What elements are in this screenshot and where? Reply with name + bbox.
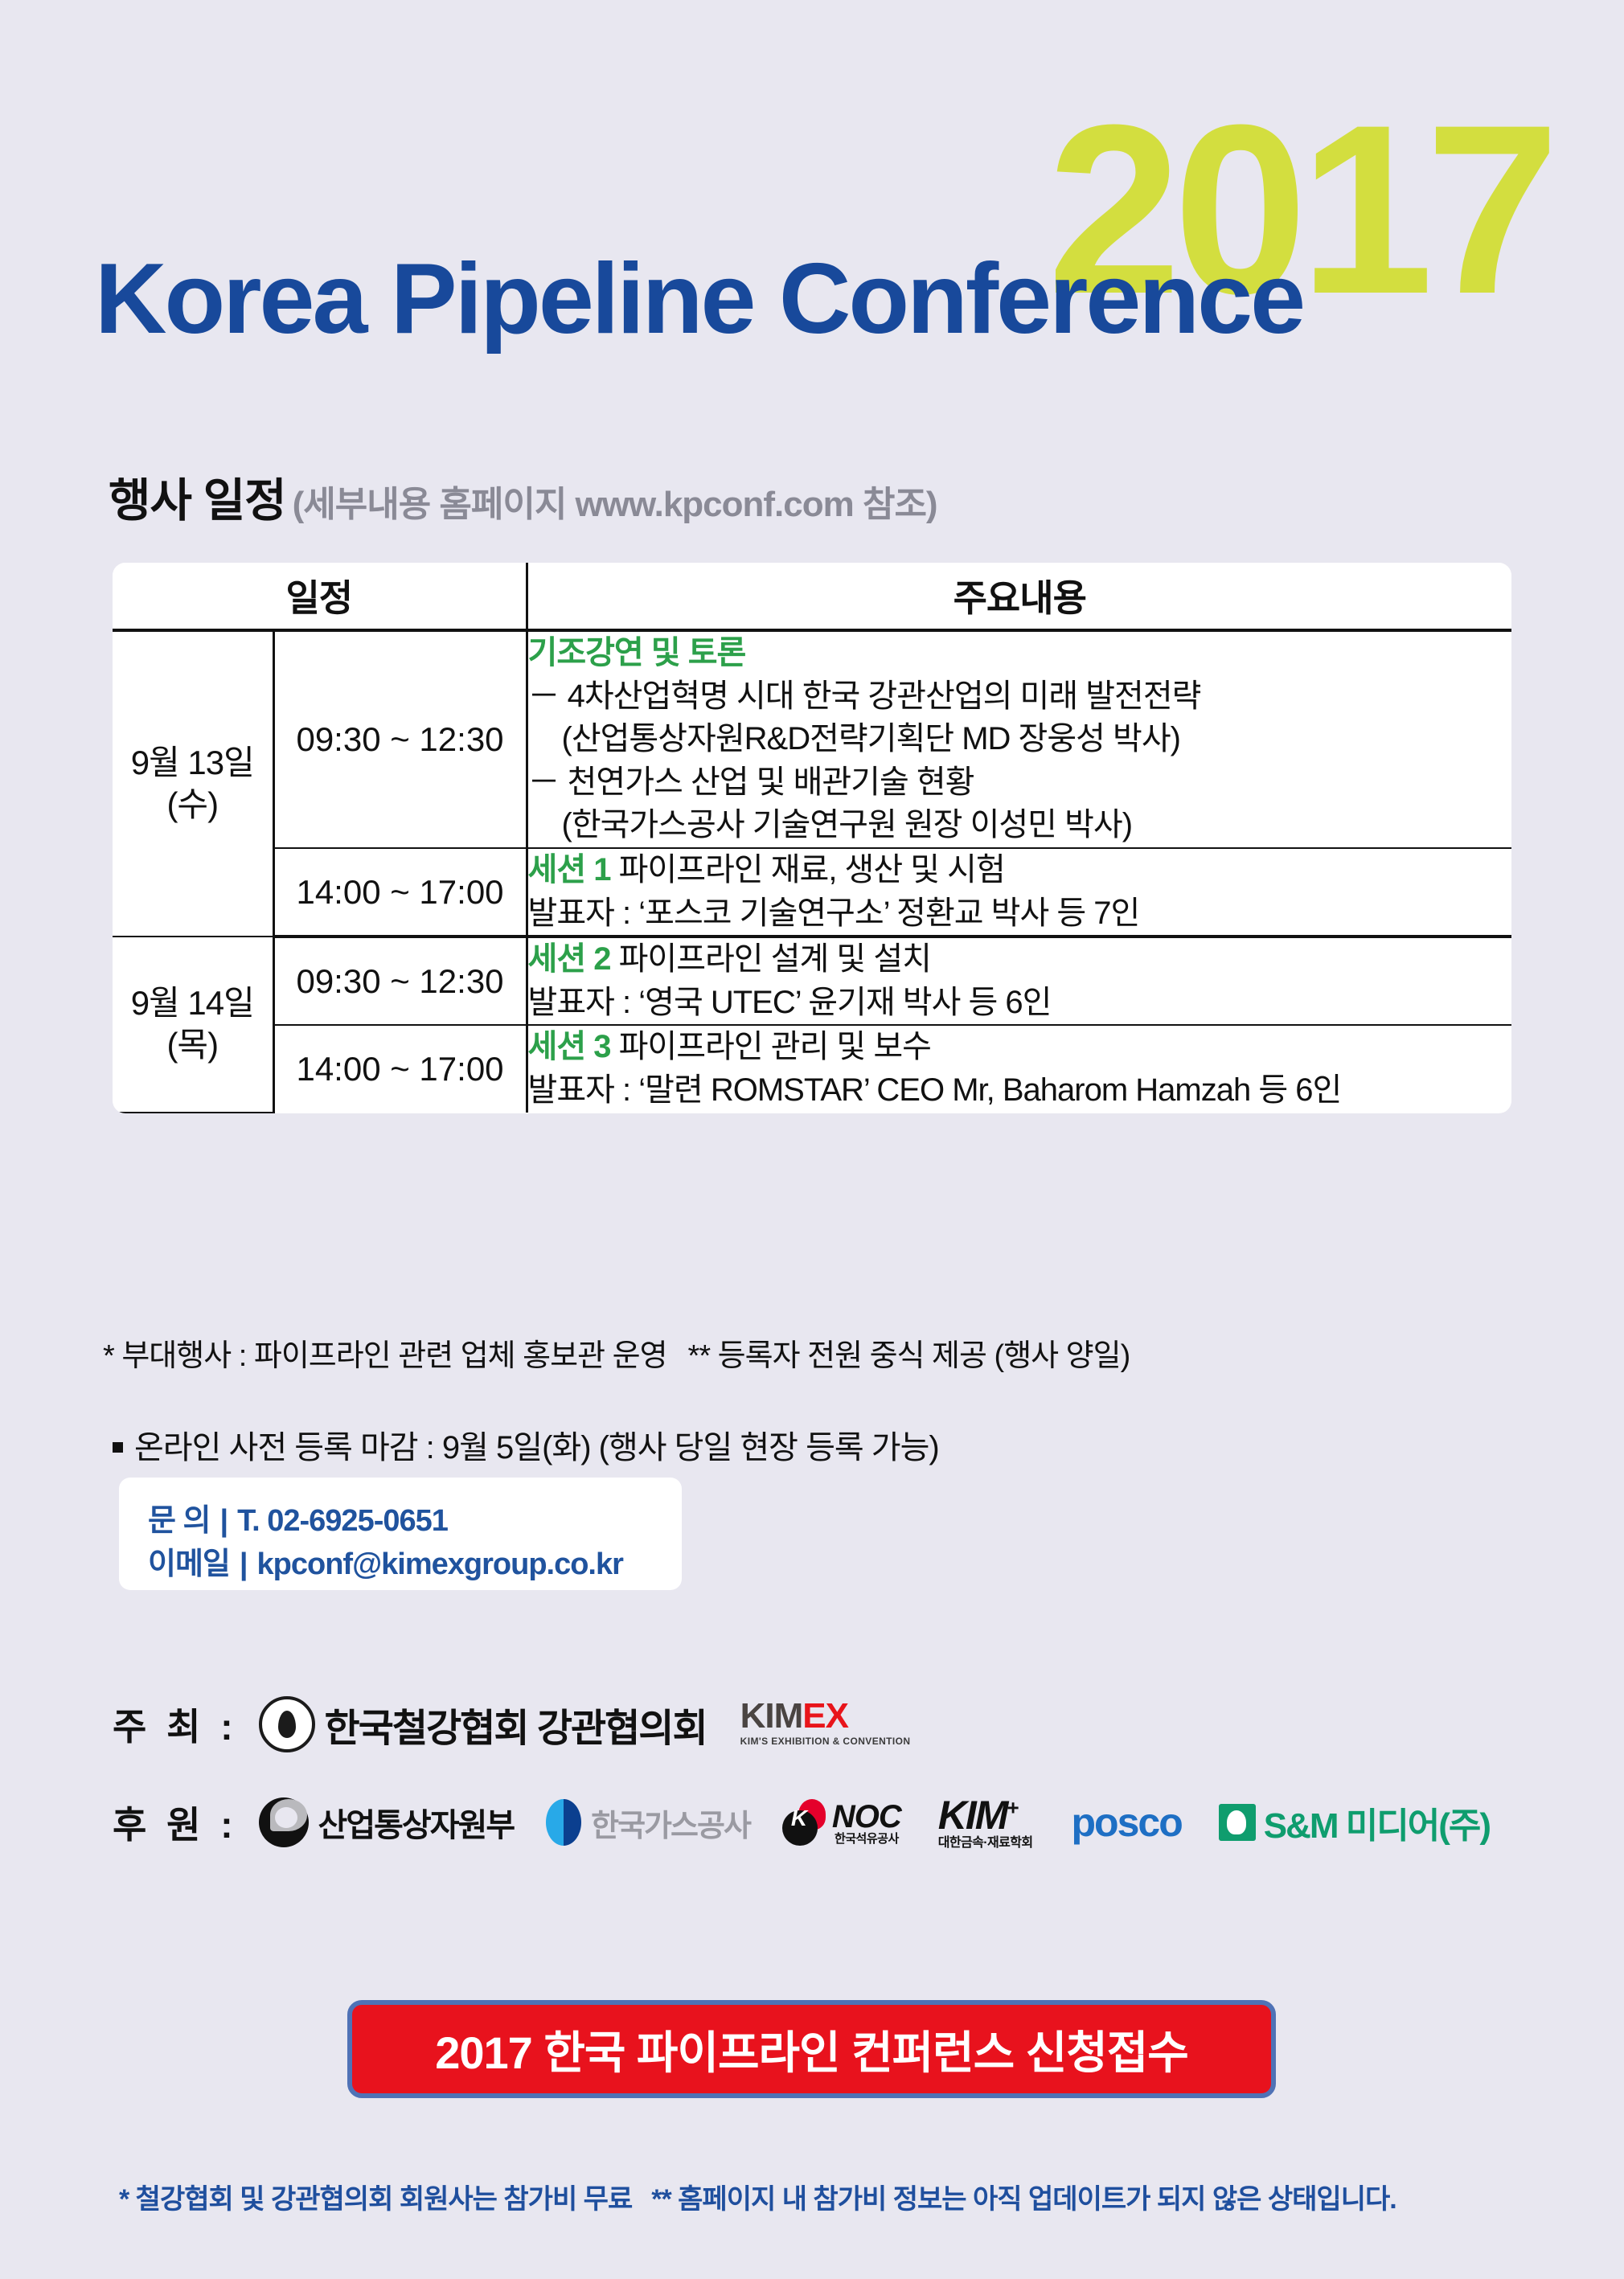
knoc-mark-icon: K	[782, 1799, 827, 1846]
logo-korea-iron-steel-association: 한국철강협회 강관협의회	[259, 1696, 707, 1752]
knoc-wordmark: NOC	[832, 1801, 901, 1833]
session2-label: 세션 2	[528, 941, 611, 977]
host-label: 주 최 :	[113, 1698, 238, 1751]
date-cell-day1: 9월 13일 (수)	[113, 630, 273, 937]
content-cell-session3: 세션 3 파이프라인 관리 및 보수 발표자 : ‘말련 ROMSTAR’ CE…	[527, 1025, 1511, 1112]
contact-email-label: 이메일	[148, 1539, 230, 1583]
time-cell: 09:30 ~ 12:30	[273, 630, 527, 848]
kogas-flame-icon	[546, 1799, 581, 1846]
content-cell-session1: 세션 1 파이프라인 재료, 생산 및 시험 발표자 : ‘포스코 기술연구소’…	[527, 848, 1511, 937]
schedule-table: 일정 주요내용 9월 13일 (수) 09:30 ~ 12:30 기조강연 및 …	[113, 563, 1511, 1113]
table-row: 14:00 ~ 17:00 세션 1 파이프라인 재료, 생산 및 시험 발표자…	[113, 848, 1511, 937]
registration-cta-button[interactable]: 2017 한국 파이프라인 컨퍼런스 신청접수	[347, 2000, 1276, 2098]
contact-phone-row: 문 의|T. 02-6925-0651	[148, 1495, 448, 1539]
table-row: 9월 14일 (목) 09:30 ~ 12:30 세션 2 파이프라인 설계 및…	[113, 937, 1511, 1025]
kim-wordmark: KIM+	[938, 1795, 1033, 1835]
host-row: 주 최 : 한국철강협회 강관협의회 KIMEX KIM'S EXHIBITIO…	[113, 1680, 910, 1769]
contact-email-value[interactable]: kpconf@kimexgroup.co.kr	[257, 1547, 623, 1581]
registration-deadline: 온라인 사전 등록 마감 : 9월 5일(화) (행사 당일 현장 등록 가능)	[113, 1421, 939, 1468]
contact-box: 문 의|T. 02-6925-0651 이메일|kpconf@kimexgrou…	[119, 1478, 682, 1590]
session2-topic: 파이프라인 설계 및 설치	[619, 941, 931, 977]
footer-note-free: * 철강협회 및 강관협의회 회원사는 참가비 무료	[119, 2184, 632, 2215]
date-text: 9월 13일	[113, 742, 273, 785]
session3-topic: 파이프라인 관리 및 보수	[619, 1029, 931, 1064]
footnote-side-event: * 부대행사 : 파이프라인 관련 업체 홍보관 운영	[103, 1339, 667, 1373]
dayname-text: (수)	[113, 784, 273, 826]
session2-heading: 세션 2 파이프라인 설계 및 설치	[528, 938, 1511, 982]
kim-sub-text: 대한금속·재료학회	[938, 1837, 1033, 1850]
bullet-square-icon	[113, 1442, 123, 1453]
contact-separator: |	[219, 1504, 228, 1538]
logo-kimex: KIMEX KIM'S EXHIBITION & CONVENTION	[740, 1699, 911, 1750]
page-title: Korea Pipeline Conference	[95, 249, 1303, 349]
session1-speakers: 발표자 : ‘포스코 기술연구소’ 정환교 박사 등 7인	[528, 892, 1511, 936]
logo-kogas: 한국가스공사	[546, 1799, 750, 1846]
session3-speakers: 발표자 : ‘말련 ROMSTAR’ CEO Mr, Baharom Hamza…	[528, 1069, 1511, 1113]
logo-knoc: K NOC 한국석유공사	[782, 1799, 901, 1846]
column-header-content: 주요내용	[527, 563, 1511, 630]
knoc-sub-text: 한국석유공사	[832, 1833, 901, 1845]
logo-motie: 산업통상자원부	[259, 1797, 515, 1847]
schedule-heading: 행사 일정(세부내용 홈페이지 www.kpconf.com 참조)	[109, 478, 937, 524]
keynote-line-4: (한국가스공사 기술연구원 원장 이성민 박사)	[528, 804, 1511, 847]
keynote-line-1: － 4차산업혁명 시대 한국 강관산업의 미래 발전전략	[528, 675, 1511, 719]
kimex-wordmark: KIMEX	[740, 1696, 848, 1736]
time-cell: 09:30 ~ 12:30	[273, 937, 527, 1025]
date-text: 9월 14일	[113, 982, 273, 1025]
steel-association-seal-icon	[259, 1696, 315, 1752]
host-logo-text: 한국철강협회 강관협의회	[325, 1696, 707, 1752]
session1-topic: 파이프라인 재료, 생산 및 시험	[619, 852, 1005, 887]
logo-posco: posco	[1072, 1799, 1182, 1846]
logo-sm-media: S&M 미디어(주)	[1219, 1797, 1490, 1848]
contact-separator: |	[240, 1547, 248, 1581]
session2-speakers: 발표자 : ‘영국 UTEC’ 윤기재 박사 등 6인	[528, 982, 1511, 1025]
content-cell-keynote: 기조강연 및 토론 － 4차산업혁명 시대 한국 강관산업의 미래 발전전략 (…	[527, 630, 1511, 848]
session1-label: 세션 1	[528, 852, 611, 887]
registration-cta-label: 2017 한국 파이프라인 컨퍼런스 신청접수	[435, 2017, 1188, 2082]
motie-taegeuk-icon	[259, 1797, 309, 1847]
table-row: 9월 13일 (수) 09:30 ~ 12:30 기조강연 및 토론 － 4차산…	[113, 630, 1511, 848]
time-cell: 14:00 ~ 17:00	[273, 848, 527, 937]
registration-deadline-text: 온라인 사전 등록 마감 : 9월 5일(화) (행사 당일 현장 등록 가능)	[134, 1430, 939, 1465]
keynote-title: 기조강연 및 토론	[528, 632, 1511, 675]
table-header-row: 일정 주요내용	[113, 563, 1511, 630]
sm-media-mark-icon	[1219, 1804, 1256, 1841]
table-row: 14:00 ~ 17:00 세션 3 파이프라인 관리 및 보수 발표자 : ‘…	[113, 1025, 1511, 1112]
keynote-line-3: － 천연가스 산업 및 배관기술 현황	[528, 761, 1511, 805]
schedule-heading-sub: (세부내용 홈페이지 www.kpconf.com 참조)	[293, 485, 937, 524]
footnote-lunch: ** 등록자 전원 중식 제공 (행사 양일)	[688, 1339, 1130, 1373]
session3-label: 세션 3	[528, 1029, 611, 1064]
poster-canvas: 2017 Korea Pipeline Conference 행사 일정(세부내…	[0, 0, 1624, 2279]
session1-heading: 세션 1 파이프라인 재료, 생산 및 시험	[528, 849, 1511, 892]
footer-notes: * 철강협회 및 강관협의회 회원사는 참가비 무료** 홈페이지 내 참가비 …	[119, 2177, 1396, 2216]
column-header-schedule: 일정	[113, 563, 527, 630]
schedule-heading-main: 행사 일정	[109, 475, 286, 527]
footer-note-update: ** 홈페이지 내 참가비 정보는 아직 업데이트가 되지 않은 상태입니다.	[651, 2184, 1396, 2215]
contact-email-row: 이메일|kpconf@kimexgroup.co.kr	[148, 1539, 623, 1583]
sponsor-row: 후 원 : 산업통상자원부 한국가스공사 K NOC 한국석유공사 KIM+ 대…	[113, 1778, 1490, 1867]
session3-heading: 세션 3 파이프라인 관리 및 보수	[528, 1026, 1511, 1069]
content-cell-session2: 세션 2 파이프라인 설계 및 설치 발표자 : ‘영국 UTEC’ 윤기재 박…	[527, 937, 1511, 1025]
contact-phone-label: 문 의	[148, 1495, 210, 1539]
schedule-table-container: 일정 주요내용 9월 13일 (수) 09:30 ~ 12:30 기조강연 및 …	[113, 563, 1511, 1113]
motie-text: 산업통상자원부	[318, 1799, 515, 1846]
kimex-tagline: KIM'S EXHIBITION & CONVENTION	[740, 1736, 911, 1747]
dayname-text: (목)	[113, 1024, 273, 1067]
table-footnotes: * 부대행사 : 파이프라인 관련 업체 홍보관 운영** 등록자 전원 중식 …	[103, 1330, 1130, 1375]
time-cell: 14:00 ~ 17:00	[273, 1025, 527, 1112]
date-cell-day2: 9월 14일 (목)	[113, 937, 273, 1112]
kogas-text: 한국가스공사	[591, 1801, 750, 1845]
sm-media-text: S&M 미디어(주)	[1264, 1797, 1490, 1848]
logo-kim: KIM+ 대한금속·재료학회	[938, 1795, 1033, 1850]
keynote-line-2: (산업통상자원R&D전략기획단 MD 장웅성 박사)	[528, 718, 1511, 761]
contact-phone-value[interactable]: T. 02-6925-0651	[237, 1504, 448, 1538]
sponsor-label: 후 원 :	[113, 1796, 238, 1849]
poster-header: 2017 Korea Pipeline Conference	[0, 0, 1624, 434]
